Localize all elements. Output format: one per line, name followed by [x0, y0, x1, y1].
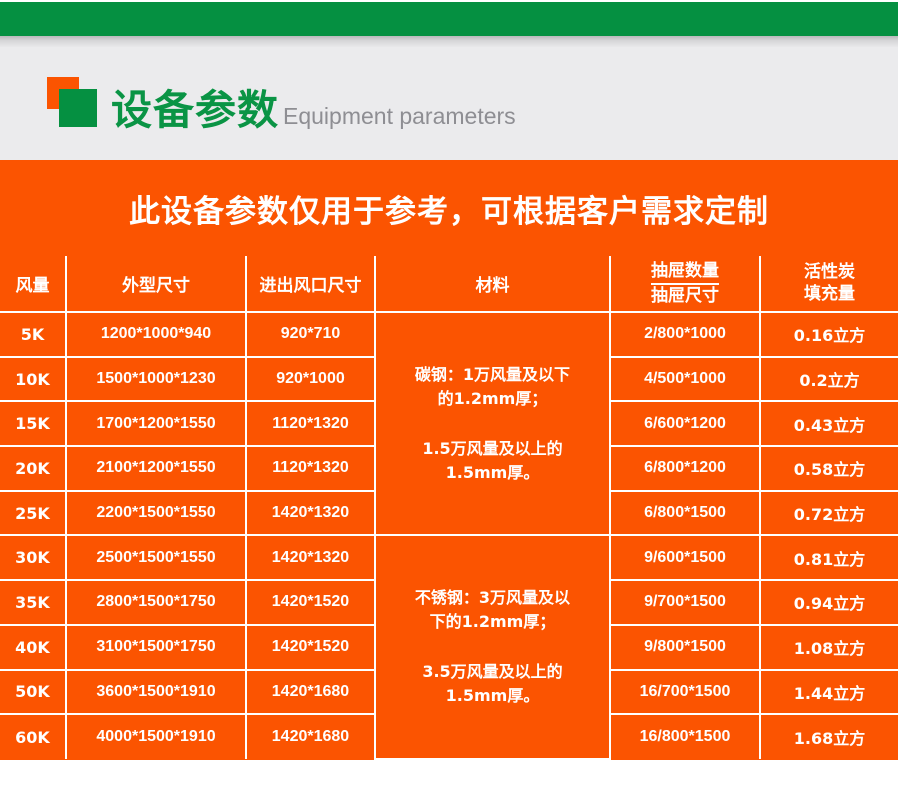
cell-inlet-outlet-size: 1420*1320 — [246, 491, 375, 536]
cell-inlet-outlet-size: 920*1000 — [246, 357, 375, 402]
section-title-group: 设备参数 Equipment parameters — [47, 77, 516, 131]
cell-airflow: 15K — [0, 401, 66, 446]
cell-inlet-outlet-size: 1420*1680 — [246, 670, 375, 715]
cell-drawer: 2/800*1000 — [610, 312, 760, 357]
cell-outer-size: 4000*1500*1910 — [66, 714, 246, 759]
cell-drawer: 16/800*1500 — [610, 714, 760, 759]
cell-carbon: 1.68立方 — [760, 714, 898, 759]
cell-inlet-outlet-size: 1420*1320 — [246, 535, 375, 580]
spec-table: 风量 外型尺寸 进出风口尺寸 材料 抽屉数量 抽屉尺寸 活性炭 填充量 — [0, 256, 898, 760]
two-squares-icon — [47, 77, 99, 127]
cell-carbon: 0.58立方 — [760, 446, 898, 491]
material-line1: 不锈钢：3万风量及以 — [380, 586, 605, 610]
cell-outer-size: 3100*1500*1750 — [66, 625, 246, 670]
cell-material: 不锈钢：3万风量及以下的1.2mm厚；3.5万风量及以上的1.5mm厚。 — [375, 535, 610, 759]
header-row: 风量 外型尺寸 进出风口尺寸 材料 抽屉数量 抽屉尺寸 活性炭 填充量 — [0, 256, 898, 312]
spec-table-body: 5K1200*1000*940920*710碳钢：1万风量及以下的1.2mm厚；… — [0, 312, 898, 759]
material-line2: 的1.2mm厚； — [380, 387, 605, 411]
cell-material: 碳钢：1万风量及以下的1.2mm厚；1.5万风量及以上的1.5mm厚。 — [375, 312, 610, 535]
material-line3: 3.5万风量及以上的 — [380, 660, 605, 684]
cell-drawer: 6/600*1200 — [610, 401, 760, 446]
cell-inlet-outlet-size: 920*710 — [246, 312, 375, 357]
carbon-label-line1: 活性炭 — [804, 262, 855, 283]
cell-inlet-outlet-size: 1120*1320 — [246, 446, 375, 491]
page-subtitle: Equipment parameters — [283, 105, 516, 128]
col-header-airflow: 风量 — [0, 256, 66, 312]
cell-carbon: 0.81立方 — [760, 535, 898, 580]
cell-carbon: 0.94立方 — [760, 580, 898, 625]
cell-airflow: 30K — [0, 535, 66, 580]
cell-carbon: 0.72立方 — [760, 491, 898, 536]
spec-page: 设备参数 Equipment parameters 此设备参数仅用于参考，可根据… — [0, 0, 898, 790]
cell-inlet-outlet-size: 1120*1320 — [246, 401, 375, 446]
bar-shadow-gradient — [0, 36, 898, 47]
cell-airflow: 60K — [0, 714, 66, 759]
cell-inlet-outlet-size: 1420*1520 — [246, 580, 375, 625]
cell-drawer: 6/800*1200 — [610, 446, 760, 491]
carbon-label-stack: 活性炭 填充量 — [804, 262, 855, 305]
cell-airflow: 35K — [0, 580, 66, 625]
notice-banner: 此设备参数仅用于参考，可根据客户需求定制 — [0, 160, 898, 256]
page-title: 设备参数 — [111, 90, 279, 131]
table-row: 5K1200*1000*940920*710碳钢：1万风量及以下的1.2mm厚；… — [0, 312, 898, 357]
section-title-band: 设备参数 Equipment parameters — [0, 47, 898, 160]
cell-carbon: 0.43立方 — [760, 401, 898, 446]
table-row: 30K2500*1500*15501420*1320不锈钢：3万风量及以下的1.… — [0, 535, 898, 580]
cell-drawer: 16/700*1500 — [610, 670, 760, 715]
material-line4: 1.5mm厚。 — [380, 684, 605, 708]
cell-drawer: 9/600*1500 — [610, 535, 760, 580]
cell-airflow: 5K — [0, 312, 66, 357]
cell-carbon: 1.08立方 — [760, 625, 898, 670]
cell-outer-size: 2800*1500*1750 — [66, 580, 246, 625]
cell-carbon: 0.16立方 — [760, 312, 898, 357]
cell-outer-size: 2500*1500*1550 — [66, 535, 246, 580]
col-header-drawer: 抽屉数量 抽屉尺寸 — [610, 256, 760, 312]
spec-table-head: 风量 外型尺寸 进出风口尺寸 材料 抽屉数量 抽屉尺寸 活性炭 填充量 — [0, 256, 898, 312]
carbon-label-line2: 填充量 — [804, 284, 855, 305]
cell-drawer: 4/500*1000 — [610, 357, 760, 402]
col-header-outer-size: 外型尺寸 — [66, 256, 246, 312]
drawer-size-label: 抽屉尺寸 — [651, 285, 719, 306]
cell-airflow: 10K — [0, 357, 66, 402]
cell-outer-size: 3600*1500*1910 — [66, 670, 246, 715]
cell-inlet-outlet-size: 1420*1680 — [246, 714, 375, 759]
col-header-carbon: 活性炭 填充量 — [760, 256, 898, 312]
cell-airflow: 40K — [0, 625, 66, 670]
cell-outer-size: 2200*1500*1550 — [66, 491, 246, 536]
top-bar — [0, 0, 898, 47]
col-header-material: 材料 — [375, 256, 610, 312]
cell-outer-size: 2100*1200*1550 — [66, 446, 246, 491]
material-line2: 下的1.2mm厚； — [380, 610, 605, 634]
green-accent-bar — [0, 2, 898, 36]
cell-airflow: 20K — [0, 446, 66, 491]
cell-carbon: 1.44立方 — [760, 670, 898, 715]
cell-drawer: 9/800*1500 — [610, 625, 760, 670]
cell-outer-size: 1700*1200*1550 — [66, 401, 246, 446]
drawer-fraction: 抽屉数量 抽屉尺寸 — [651, 261, 719, 305]
notice-banner-text: 此设备参数仅用于参考，可根据客户需求定制 — [129, 186, 769, 231]
cell-outer-size: 1200*1000*940 — [66, 312, 246, 357]
cell-drawer: 9/700*1500 — [610, 580, 760, 625]
material-line4: 1.5mm厚。 — [380, 461, 605, 485]
material-line3: 1.5万风量及以上的 — [380, 437, 605, 461]
col-header-inlet-outlet-size: 进出风口尺寸 — [246, 256, 375, 312]
cell-airflow: 50K — [0, 670, 66, 715]
material-line1: 碳钢：1万风量及以下 — [380, 363, 605, 387]
drawer-count-label: 抽屉数量 — [651, 261, 719, 284]
cell-outer-size: 1500*1000*1230 — [66, 357, 246, 402]
cell-airflow: 25K — [0, 491, 66, 536]
cell-inlet-outlet-size: 1420*1520 — [246, 625, 375, 670]
cell-carbon: 0.2立方 — [760, 357, 898, 402]
cell-drawer: 6/800*1500 — [610, 491, 760, 536]
spec-table-container: 风量 外型尺寸 进出风口尺寸 材料 抽屉数量 抽屉尺寸 活性炭 填充量 — [0, 256, 898, 760]
green-square-shape — [59, 89, 97, 127]
